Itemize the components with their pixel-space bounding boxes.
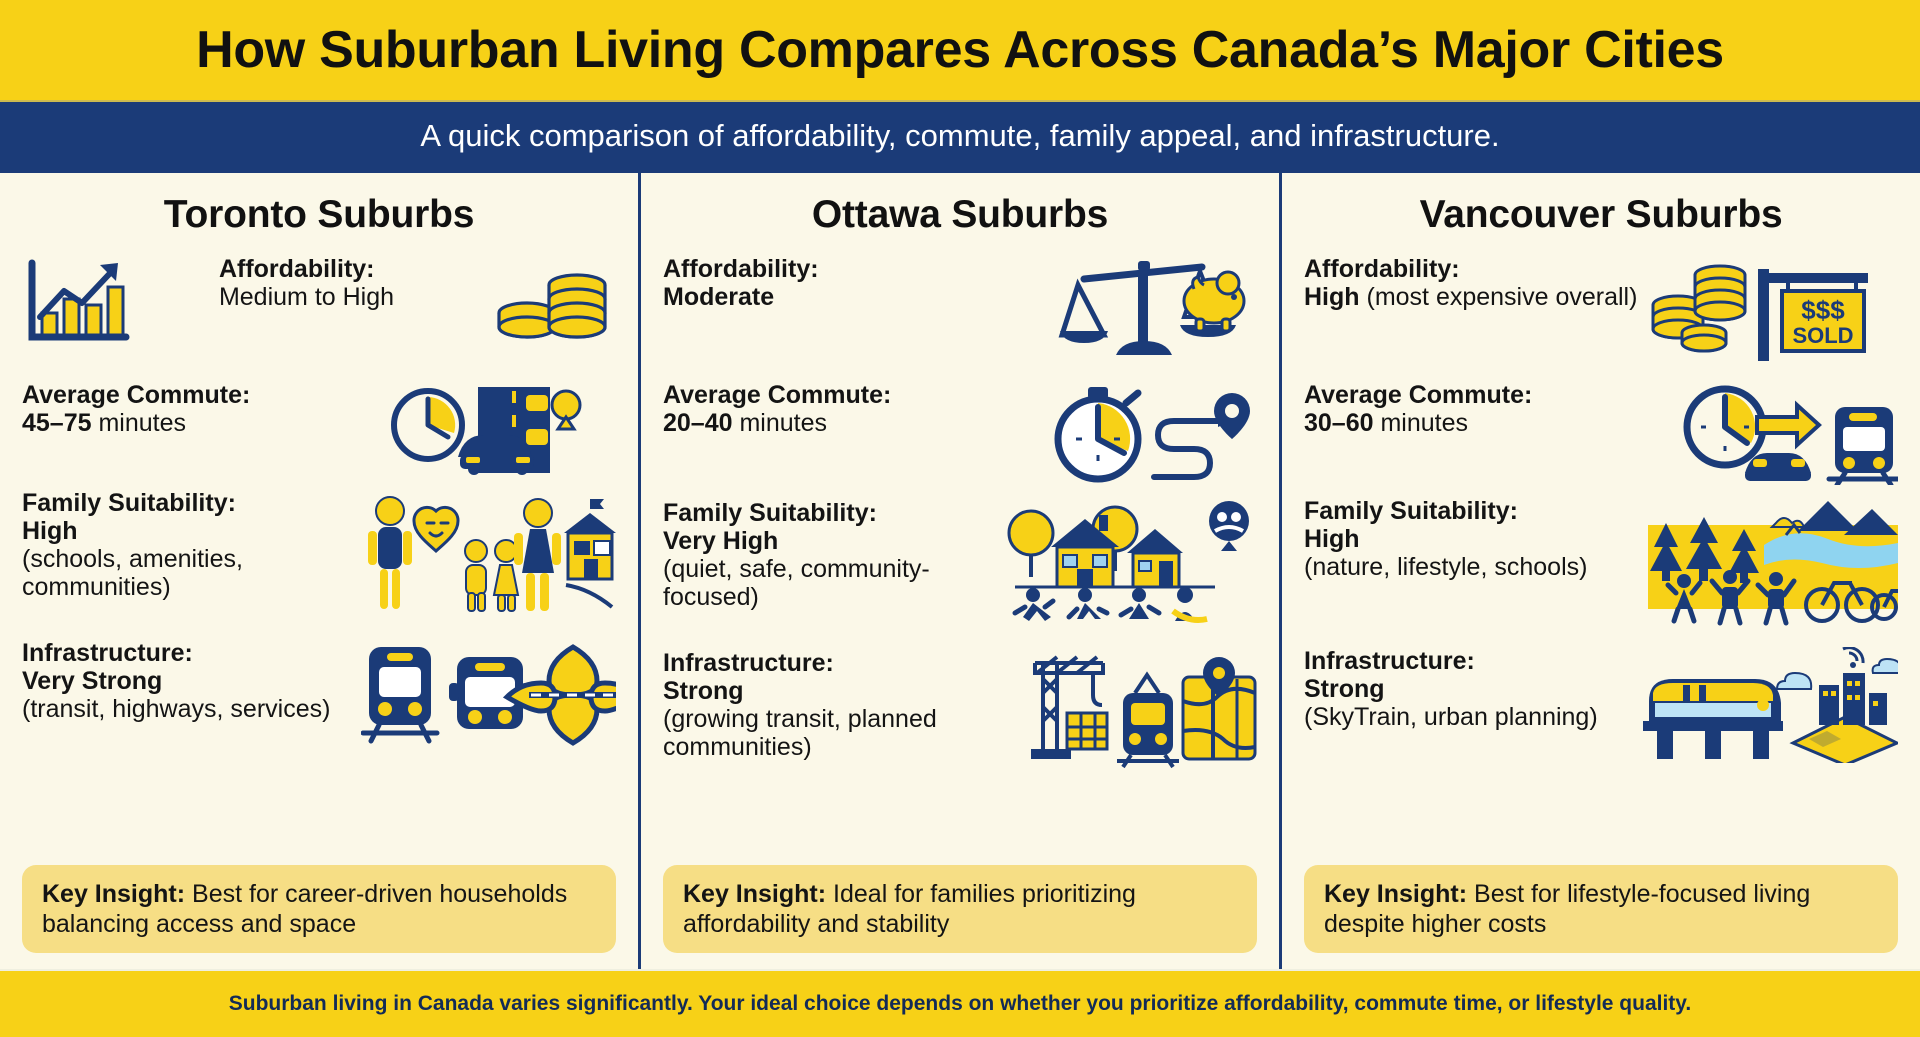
footer-banner: Suburban living in Canada varies signifi… bbox=[0, 969, 1920, 1037]
commute-text-ottawa: Average Commute: 20–40 minutes bbox=[663, 381, 891, 437]
title-banner: How Suburban Living Compares Across Cana… bbox=[0, 0, 1920, 100]
infrastructure-note: (growing transit, planned communities) bbox=[663, 705, 997, 761]
metric-row-infrastructure: Infrastructure: Strong (growing transit,… bbox=[663, 649, 1257, 771]
metric-row-commute: Average Commute: 45–75 minutes bbox=[22, 381, 616, 477]
family-text-ottawa: Family Suitability: Very High (quiet, sa… bbox=[663, 499, 997, 611]
commute-unit: minutes bbox=[1380, 409, 1468, 437]
family-text-toronto: Family Suitability: High (schools, ameni… bbox=[22, 489, 356, 601]
family-note: (quiet, safe, community-focused) bbox=[663, 555, 997, 611]
crane-tram-map-icon bbox=[1007, 649, 1257, 771]
metric-row-family: Family Suitability: High (nature, lifest… bbox=[1304, 497, 1898, 637]
commute-text-toronto: Average Commute: 45–75 minutes bbox=[22, 381, 250, 437]
commute-label: Average Commute: bbox=[663, 381, 891, 409]
family-value: Very High bbox=[663, 527, 997, 555]
affordability-text-toronto: Affordability: Medium to High bbox=[219, 255, 394, 311]
column-toronto: Toronto Suburbs bbox=[0, 173, 638, 969]
infrastructure-value: Strong bbox=[1304, 675, 1598, 703]
key-insight-label: Key Insight: bbox=[1324, 880, 1467, 908]
metric-row-infrastructure: Infrastructure: Strong (SkyTrain, urban … bbox=[1304, 647, 1898, 767]
metric-row-affordability: Affordability: Medium to High bbox=[22, 255, 616, 367]
infrastructure-label: Infrastructure: bbox=[1304, 647, 1598, 675]
commute-unit: minutes bbox=[98, 409, 186, 437]
page-subtitle: A quick comparison of affordability, com… bbox=[420, 118, 1499, 154]
metric-row-commute: Average Commute: 20–40 minutes bbox=[663, 381, 1257, 487]
metric-row-affordability: Affordability: High (most expensive over… bbox=[1304, 255, 1898, 367]
commute-text-vancouver: Average Commute: 30–60 minutes bbox=[1304, 381, 1532, 437]
infrastructure-value: Strong bbox=[663, 677, 997, 705]
svg-text:SOLD: SOLD bbox=[1792, 323, 1853, 348]
commute-label: Average Commute: bbox=[22, 381, 250, 409]
column-title-ottawa: Ottawa Suburbs bbox=[663, 193, 1257, 237]
comparison-columns: Toronto Suburbs bbox=[0, 170, 1920, 969]
family-note: (schools, amenities, communities) bbox=[22, 545, 356, 601]
affordability-text-vancouver: Affordability: High (most expensive over… bbox=[1304, 255, 1637, 311]
affordability-value: Moderate bbox=[663, 283, 819, 311]
metric-rows-toronto: Affordability: Medium to High bbox=[22, 247, 616, 859]
train-bus-interchange-icon bbox=[361, 639, 616, 751]
column-ottawa: Ottawa Suburbs Affordability: Moderate bbox=[638, 173, 1279, 969]
neighbourhood-houses-children-icon bbox=[1007, 499, 1257, 635]
affordability-label: Affordability: bbox=[219, 255, 394, 283]
family-label: Family Suitability: bbox=[1304, 497, 1587, 525]
infographic-page: How Suburban Living Compares Across Cana… bbox=[0, 0, 1920, 1037]
metric-row-commute: Average Commute: 30–60 minutes bbox=[1304, 381, 1898, 485]
metric-row-infrastructure: Infrastructure: Very Strong (transit, hi… bbox=[22, 639, 616, 759]
family-value: High bbox=[1304, 525, 1587, 553]
mountains-children-bikes-icon bbox=[1648, 497, 1898, 629]
metric-rows-ottawa: Affordability: Moderate bbox=[663, 247, 1257, 859]
commute-value: 30–60 bbox=[1304, 409, 1374, 437]
clock-car-train-icon bbox=[1673, 381, 1898, 485]
infrastructure-text-ottawa: Infrastructure: Strong (growing transit,… bbox=[663, 649, 997, 761]
footer-text: Suburban living in Canada varies signifi… bbox=[229, 992, 1692, 1016]
metric-row-affordability: Affordability: Moderate bbox=[663, 255, 1257, 367]
coins-sold-sign-icon: $$$ SOLD bbox=[1648, 255, 1898, 367]
affordability-note: (most expensive overall) bbox=[1367, 283, 1638, 311]
key-insight-toronto: Key Insight: Best for career-driven hous… bbox=[22, 865, 616, 953]
commute-label: Average Commute: bbox=[1304, 381, 1532, 409]
infrastructure-value: Very Strong bbox=[22, 667, 330, 695]
bar-chart-growth-icon bbox=[22, 255, 132, 347]
family-label: Family Suitability: bbox=[663, 499, 997, 527]
svg-text:$$$: $$$ bbox=[1801, 295, 1845, 325]
affordability-label: Affordability: bbox=[1304, 255, 1637, 283]
affordability-label: Affordability: bbox=[663, 255, 819, 283]
key-insight-vancouver: Key Insight: Best for lifestyle-focused … bbox=[1304, 865, 1898, 953]
metric-row-family: Family Suitability: High (schools, ameni… bbox=[22, 489, 616, 629]
family-note: (nature, lifestyle, schools) bbox=[1304, 553, 1587, 581]
family-text-vancouver: Family Suitability: High (nature, lifest… bbox=[1304, 497, 1587, 581]
metric-row-family: Family Suitability: Very High (quiet, sa… bbox=[663, 499, 1257, 639]
infrastructure-note: (SkyTrain, urban planning) bbox=[1304, 703, 1598, 731]
infrastructure-text-toronto: Infrastructure: Very Strong (transit, hi… bbox=[22, 639, 330, 723]
family-school-playground-icon bbox=[366, 489, 616, 617]
metric-rows-vancouver: Affordability: High (most expensive over… bbox=[1304, 247, 1898, 859]
stopwatch-route-pin-icon bbox=[1042, 381, 1257, 487]
subtitle-banner: A quick comparison of affordability, com… bbox=[0, 100, 1920, 170]
skytrain-city-icon bbox=[1643, 647, 1898, 763]
key-insight-ottawa: Key Insight: Ideal for families prioriti… bbox=[663, 865, 1257, 953]
affordability-value: Medium to High bbox=[219, 283, 394, 311]
family-label: Family Suitability: bbox=[22, 489, 356, 517]
infrastructure-note: (transit, highways, services) bbox=[22, 695, 330, 723]
page-title: How Suburban Living Compares Across Cana… bbox=[196, 20, 1724, 80]
affordability-value: High bbox=[1304, 283, 1360, 311]
balance-scale-piggybank-icon bbox=[1042, 255, 1257, 367]
family-value: High bbox=[22, 517, 356, 545]
column-vancouver: Vancouver Suburbs Affordability: High (m… bbox=[1279, 173, 1920, 969]
infrastructure-label: Infrastructure: bbox=[663, 649, 997, 677]
infrastructure-label: Infrastructure: bbox=[22, 639, 330, 667]
infrastructure-text-vancouver: Infrastructure: Strong (SkyTrain, urban … bbox=[1304, 647, 1598, 731]
key-insight-label: Key Insight: bbox=[42, 880, 185, 908]
commute-value: 20–40 bbox=[663, 409, 733, 437]
column-title-vancouver: Vancouver Suburbs bbox=[1304, 193, 1898, 237]
affordability-text-ottawa: Affordability: Moderate bbox=[663, 255, 819, 311]
column-title-toronto: Toronto Suburbs bbox=[22, 193, 616, 237]
coin-stacks-icon bbox=[481, 255, 616, 351]
clock-highway-traffic-icon bbox=[386, 381, 616, 477]
commute-value: 45–75 bbox=[22, 409, 92, 437]
key-insight-label: Key Insight: bbox=[683, 880, 826, 908]
commute-unit: minutes bbox=[739, 409, 827, 437]
